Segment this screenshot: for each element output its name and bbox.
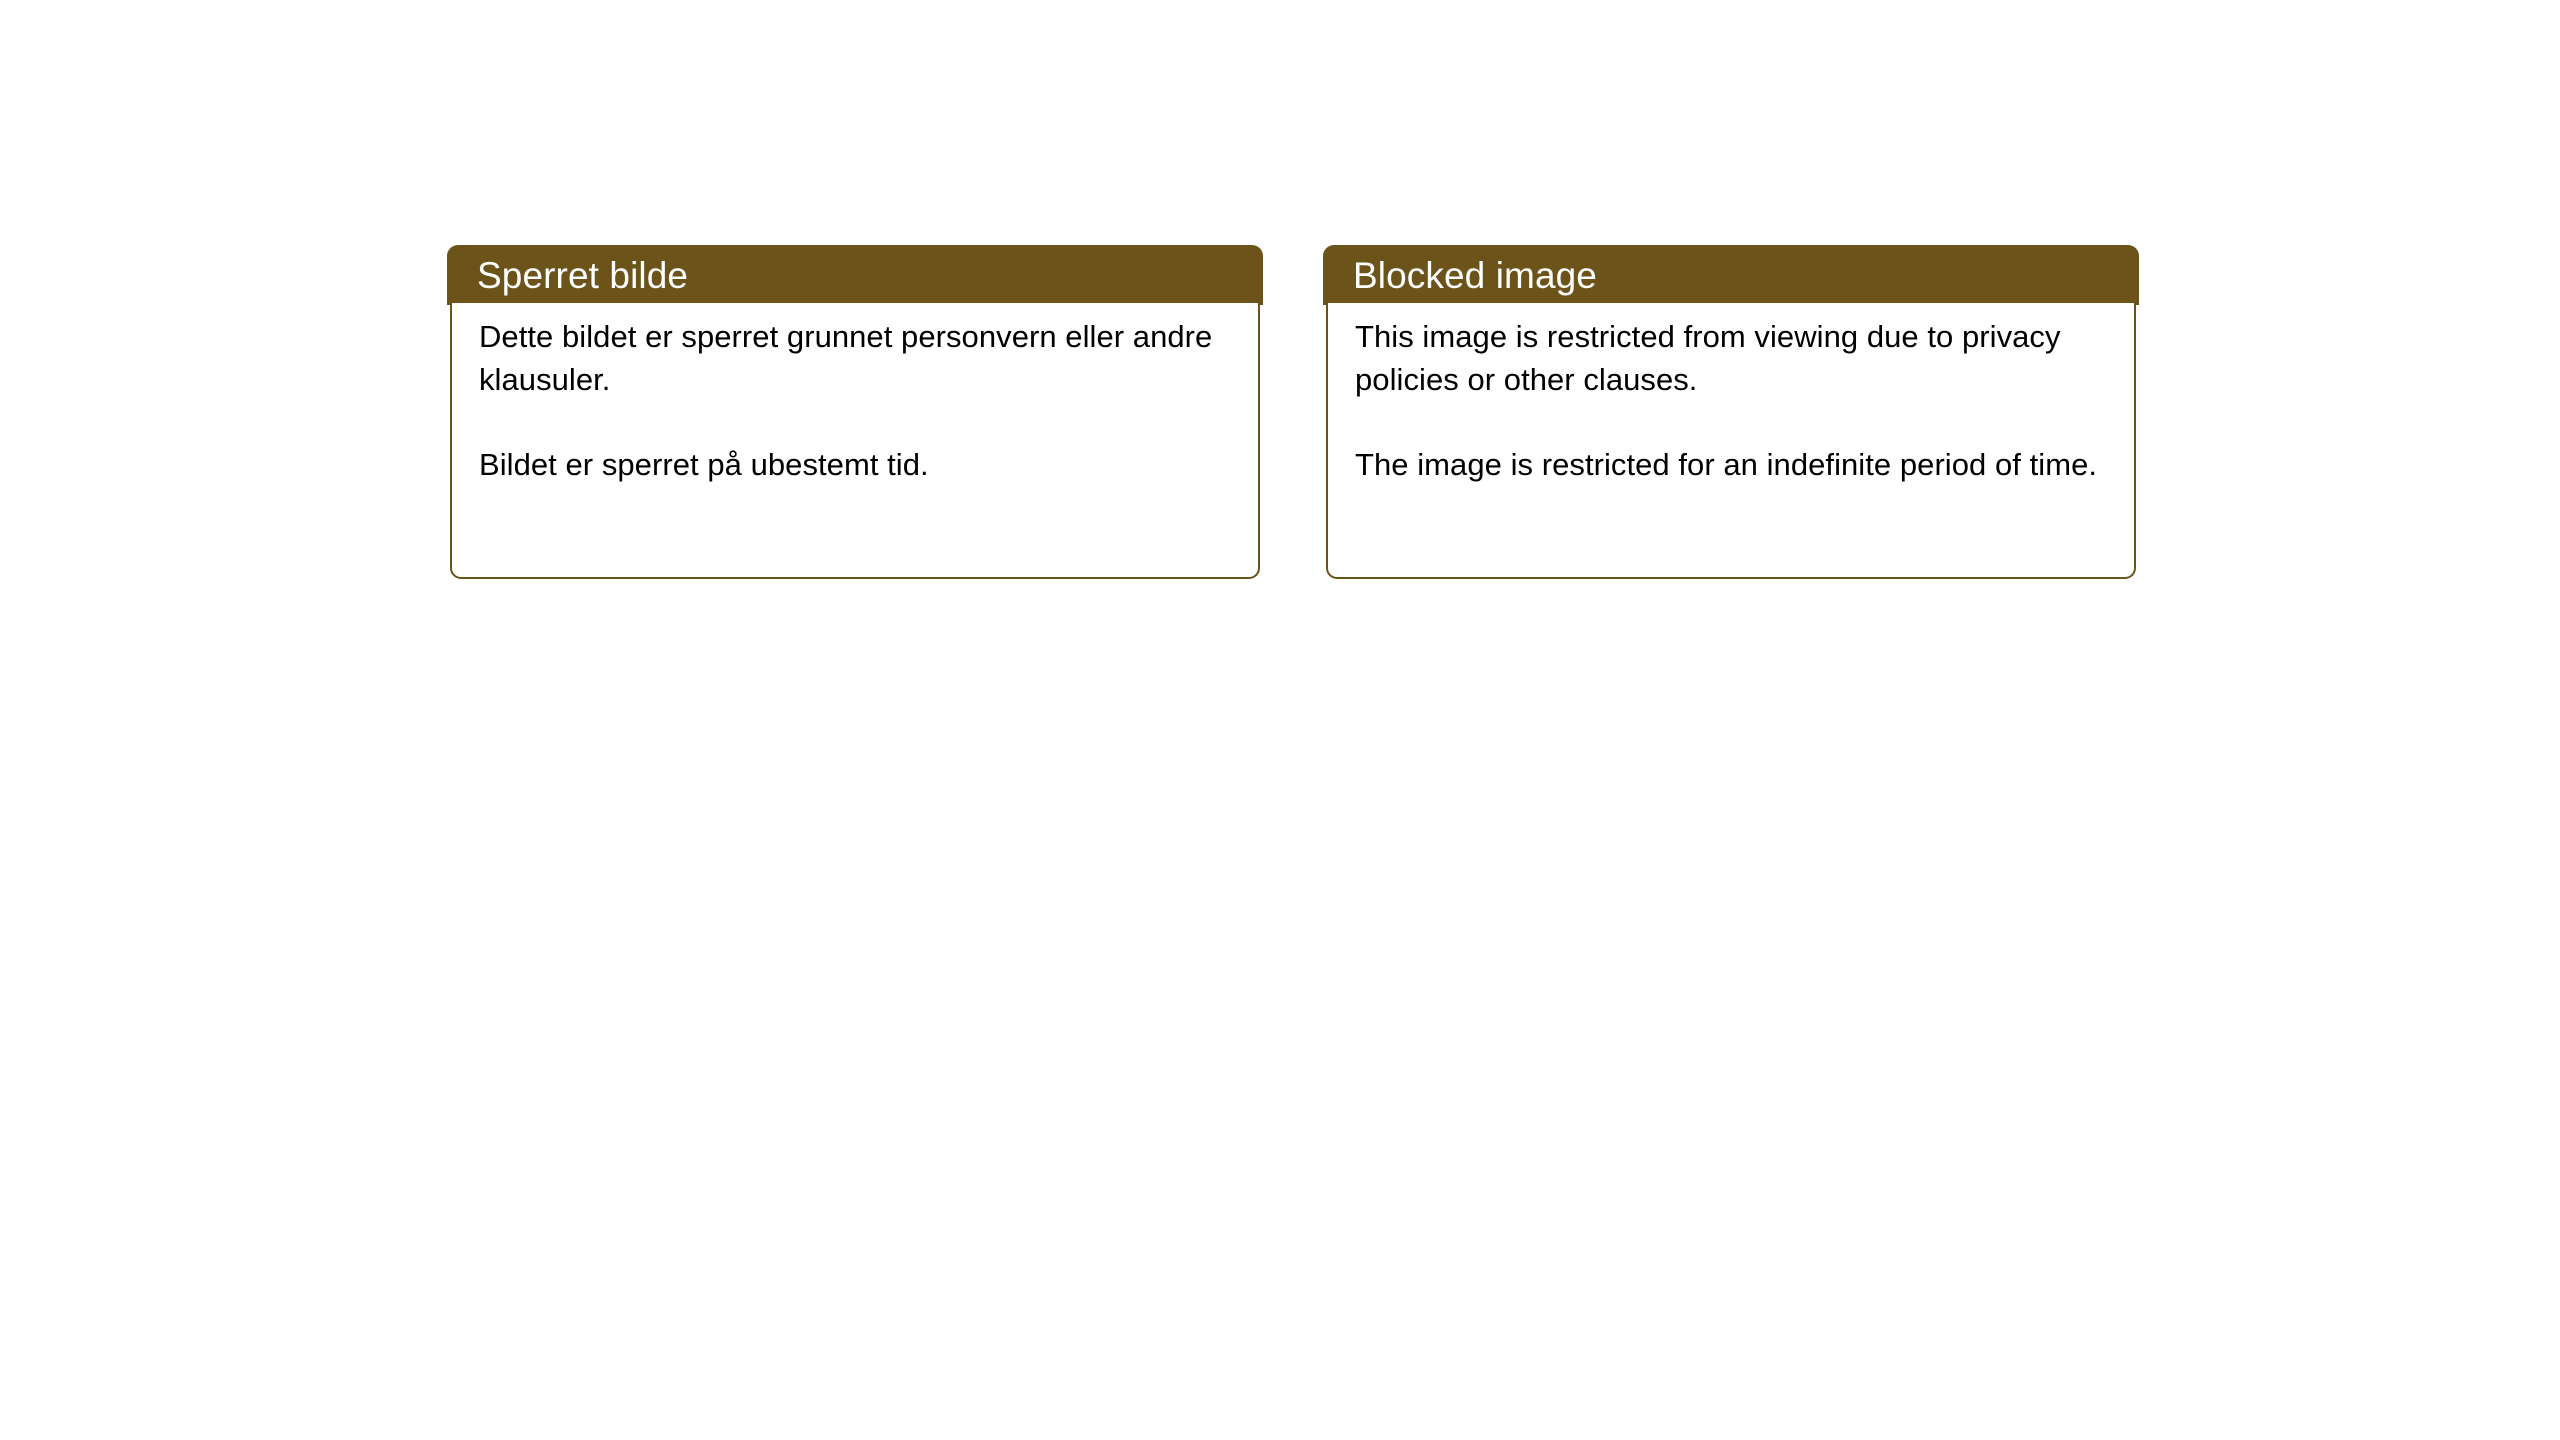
card-paragraph-primary-norwegian: Dette bildet er sperret grunnet personve… — [479, 315, 1240, 401]
card-title-english: Blocked image — [1353, 254, 1597, 298]
card-body-english: This image is restricted from viewing du… — [1326, 303, 2136, 579]
card-header-norwegian: Sperret bilde — [447, 245, 1263, 305]
card-paragraph-secondary-norwegian: Bildet er sperret på ubestemt tid. — [479, 443, 1240, 486]
card-title-norwegian: Sperret bilde — [477, 254, 688, 298]
card-header-english: Blocked image — [1323, 245, 2139, 305]
page-canvas: Sperret bilde Dette bildet er sperret gr… — [0, 0, 2560, 1440]
card-body-content-norwegian: Dette bildet er sperret grunnet personve… — [479, 315, 1240, 486]
blocked-image-notice-card-english: Blocked image This image is restricted f… — [1323, 245, 2139, 579]
card-body-norwegian: Dette bildet er sperret grunnet personve… — [450, 303, 1260, 579]
card-paragraph-secondary-english: The image is restricted for an indefinit… — [1355, 443, 2116, 486]
blocked-image-notice-card-norwegian: Sperret bilde Dette bildet er sperret gr… — [447, 245, 1263, 579]
card-paragraph-primary-english: This image is restricted from viewing du… — [1355, 315, 2116, 401]
card-body-content-english: This image is restricted from viewing du… — [1355, 315, 2116, 486]
